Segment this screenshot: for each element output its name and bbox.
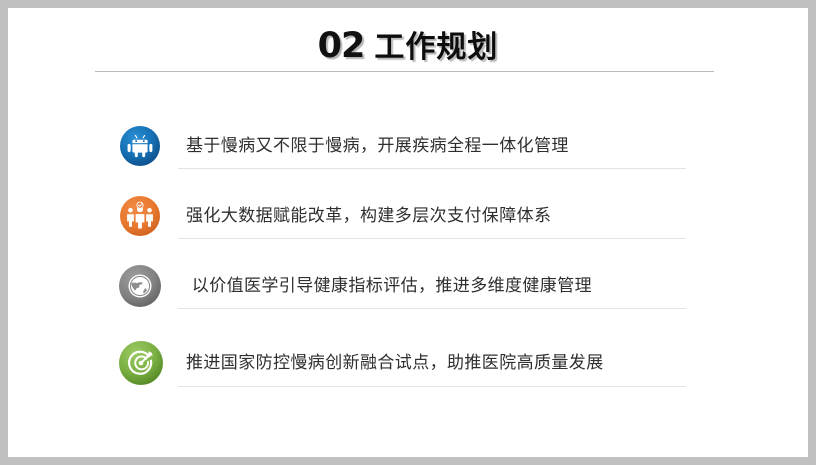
list-item-label: 推进国家防控慢病创新融合试点，助推医院高质量发展: [186, 346, 604, 380]
slide-frame: 02工作规划: [0, 0, 816, 465]
android-robot-icon: [119, 125, 161, 167]
people-group-check-icon: [119, 195, 161, 237]
globe-icon: [118, 264, 162, 308]
list-item[interactable]: 推进国家防控慢病创新融合试点，助推医院高质量发展: [8, 338, 808, 408]
page-title: 02工作规划: [8, 22, 808, 66]
list-item-divider: [178, 308, 686, 309]
list-item-divider: [178, 386, 686, 387]
target-dart-icon: [118, 340, 164, 386]
title-number: 02: [318, 26, 365, 66]
slide-canvas: 02工作规划: [8, 8, 808, 457]
list-item-label: 以价值医学引导健康指标评估，推进多维度健康管理: [186, 269, 592, 303]
list-item-label: 强化大数据赋能改革，构建多层次支付保障体系: [186, 199, 551, 233]
list-item[interactable]: 基于慢病又不限于慢病，开展疾病全程一体化管理: [8, 121, 808, 191]
list-item[interactable]: 强化大数据赋能改革，构建多层次支付保障体系: [8, 191, 808, 261]
list-item-divider: [178, 238, 686, 239]
list-item-label: 基于慢病又不限于慢病，开展疾病全程一体化管理: [186, 129, 569, 163]
list-item[interactable]: 以价值医学引导健康指标评估，推进多维度健康管理: [8, 261, 808, 331]
list-item-divider: [178, 168, 686, 169]
title-underline-rule: [95, 71, 714, 72]
title-text: 工作规划: [374, 30, 498, 65]
